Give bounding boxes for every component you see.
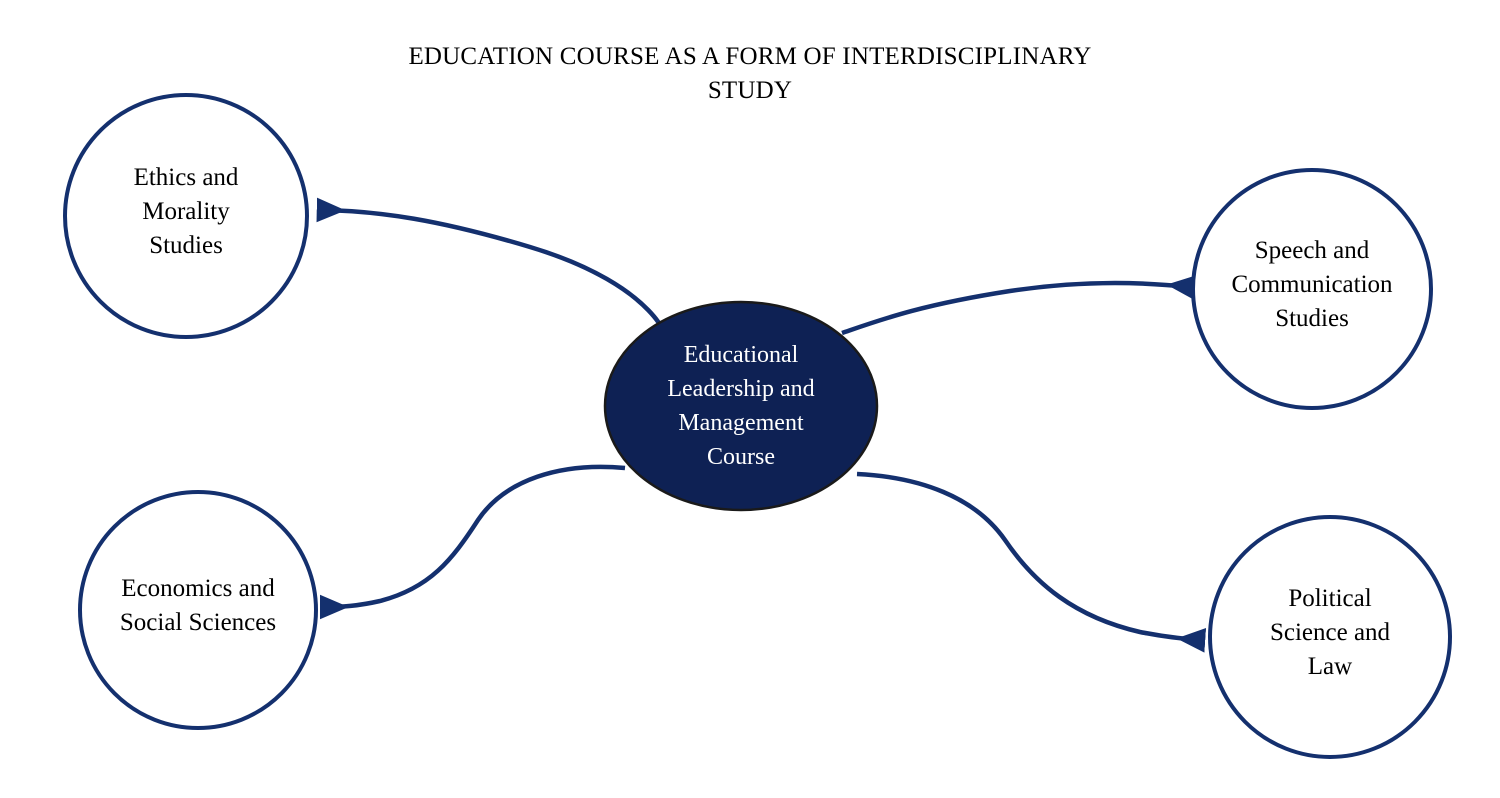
node-ethics-and-morality-studies[interactable] bbox=[65, 95, 307, 337]
diagram-canvas: EDUCATION COURSE AS A FORM OF INTERDISCI… bbox=[0, 0, 1500, 798]
diagram-graphics bbox=[0, 0, 1500, 798]
node-speech-and-communication-studies[interactable] bbox=[1193, 170, 1431, 408]
connector-center-to-economics bbox=[325, 467, 625, 607]
connector-center-to-ethics bbox=[322, 210, 664, 335]
page-title: EDUCATION COURSE AS A FORM OF INTERDISCI… bbox=[330, 40, 1170, 108]
node-political-science-and-law[interactable] bbox=[1210, 517, 1450, 757]
node-economics-and-social-sciences[interactable] bbox=[80, 492, 316, 728]
node-educational-leadership-and-management-course[interactable] bbox=[605, 302, 877, 510]
connector-center-to-political bbox=[857, 474, 1200, 640]
connector-center-to-speech bbox=[842, 283, 1190, 333]
